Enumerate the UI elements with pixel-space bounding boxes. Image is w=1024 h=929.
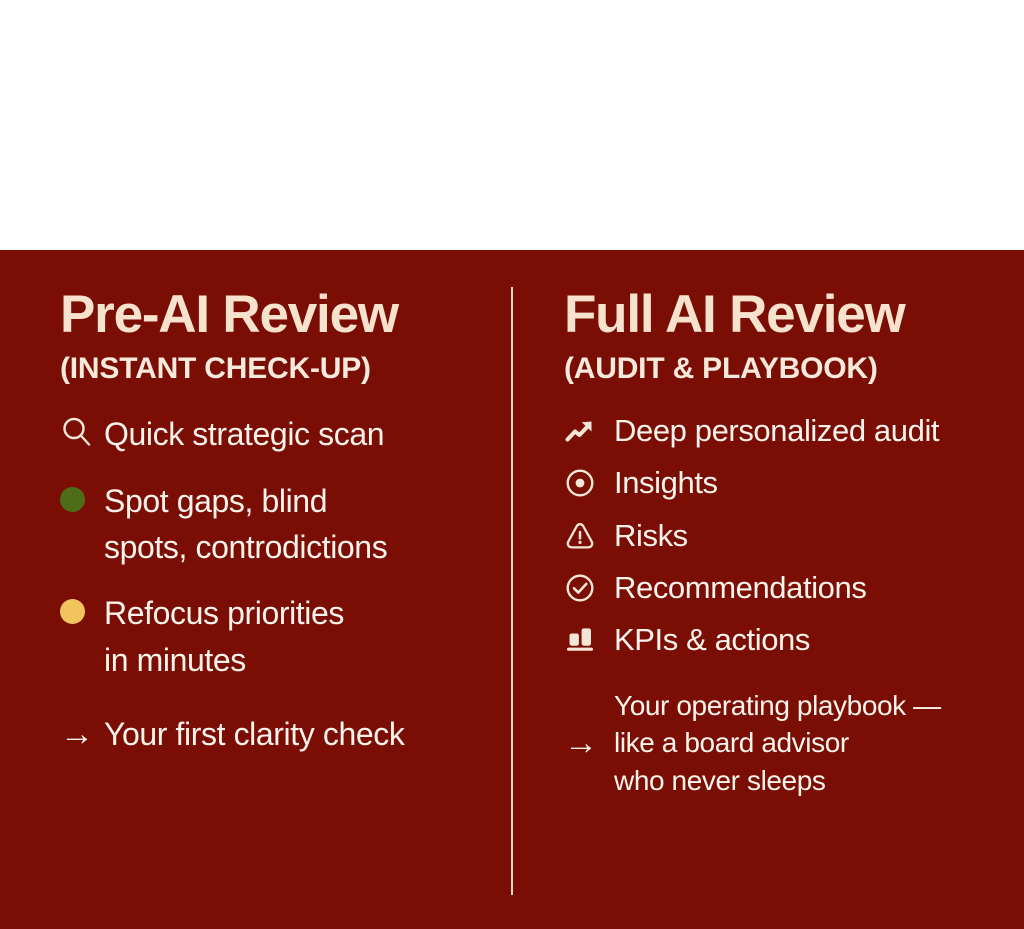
list-item: Quick strategic scan xyxy=(60,411,492,457)
column-pre-ai-review: Pre-AI Review (INSTANT CHECK-UP) Quick s… xyxy=(0,250,512,929)
list-item-label: Recommendations xyxy=(614,568,866,608)
list-item-label: Risks xyxy=(614,516,688,556)
list-item-label: Quick strategic scan xyxy=(104,411,384,457)
list-item: Risks xyxy=(564,516,1008,556)
list-item: Deep personalized audit xyxy=(564,411,1008,451)
column-full-ai-review: Full AI Review (AUDIT & PLAYBOOK) Deep p… xyxy=(512,250,1024,929)
list-item: KPIs & actions xyxy=(564,620,1008,660)
list-item: Spot gaps, blind spots, controdictions xyxy=(60,478,492,571)
right-footer: → Your operating playbook — like a board… xyxy=(564,687,1008,800)
left-footer-label: Your first clarity check xyxy=(104,711,404,757)
warning-triangle-icon xyxy=(564,516,614,552)
list-item: Refocus priorities in minutes xyxy=(60,590,492,683)
arrow-right-icon: → xyxy=(60,717,104,751)
right-heading: Full AI Review xyxy=(564,287,1008,343)
left-heading: Pre-AI Review xyxy=(60,287,492,343)
arrow-right-icon: → xyxy=(564,726,614,760)
green-dot-icon xyxy=(60,478,104,512)
search-icon xyxy=(60,411,104,449)
list-item: Recommendations xyxy=(564,568,1008,608)
yellow-dot-icon xyxy=(60,590,104,624)
left-footer: → Your first clarity check xyxy=(60,711,492,757)
top-white-band xyxy=(0,0,1024,250)
right-footer-label: Your operating playbook — like a board a… xyxy=(614,687,941,800)
list-item-label: Insights xyxy=(614,463,718,503)
list-item-label: Spot gaps, blind spots, controdictions xyxy=(104,478,387,571)
right-feature-list: Deep personalized audit Insights xyxy=(564,411,1008,660)
list-item-label: KPIs & actions xyxy=(614,620,810,660)
column-divider xyxy=(511,287,513,895)
comparison-graphic: Pre-AI Review (INSTANT CHECK-UP) Quick s… xyxy=(0,0,1024,929)
list-item: Insights xyxy=(564,463,1008,503)
right-subheading: (AUDIT & PLAYBOOK) xyxy=(564,352,1008,385)
bar-chart-icon xyxy=(564,620,614,654)
trending-up-icon xyxy=(564,411,614,447)
left-feature-list: Quick strategic scan Spot gaps, blind sp… xyxy=(60,411,492,683)
left-subheading: (INSTANT CHECK-UP) xyxy=(60,352,492,385)
list-item-label: Refocus priorities in minutes xyxy=(104,590,344,683)
check-circle-icon xyxy=(564,568,614,604)
list-item-label: Deep personalized audit xyxy=(614,411,939,451)
target-icon xyxy=(564,463,614,499)
